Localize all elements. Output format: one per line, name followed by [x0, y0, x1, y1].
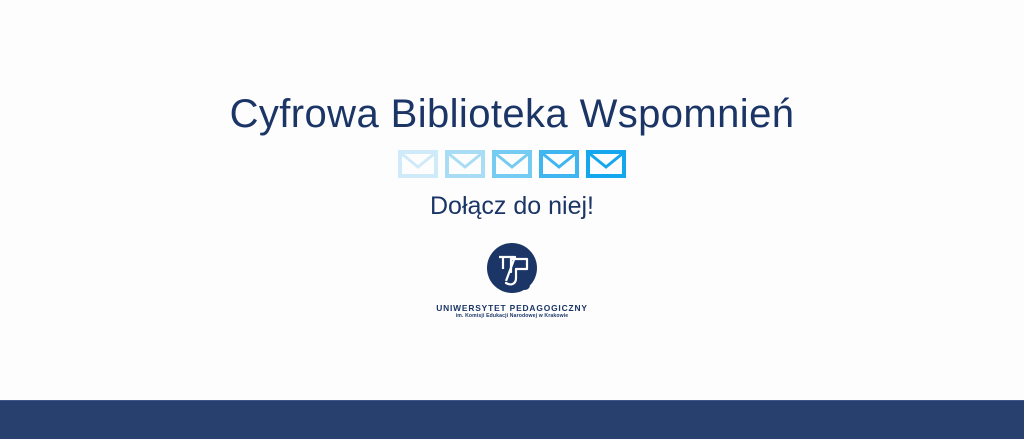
university-logo: UNIWERSYTET PEDAGOGICZNY im. Komisji Edu… [436, 241, 588, 320]
logo-75-mark-icon [475, 241, 549, 301]
envelope-icon [492, 150, 532, 178]
banner-subtitle: Dołącz do niej! [430, 194, 594, 219]
promo-banner: Cyfrowa Biblioteka Wspomnień [0, 0, 1024, 438]
footer-bar [0, 400, 1024, 439]
envelope-icon [586, 150, 626, 178]
envelope-icon [539, 150, 579, 178]
logo-university-name: UNIWERSYTET PEDAGOGICZNY [436, 304, 588, 313]
logo-university-subtitle: im. Komisji Edukacji Narodowej w Krakowi… [456, 314, 569, 320]
envelope-icon-row [398, 150, 626, 178]
banner-headline: Cyfrowa Biblioteka Wspomnień [230, 94, 795, 134]
banner-content: Cyfrowa Biblioteka Wspomnień [0, 0, 1024, 400]
envelope-icon [445, 150, 485, 178]
envelope-icon [398, 150, 438, 178]
